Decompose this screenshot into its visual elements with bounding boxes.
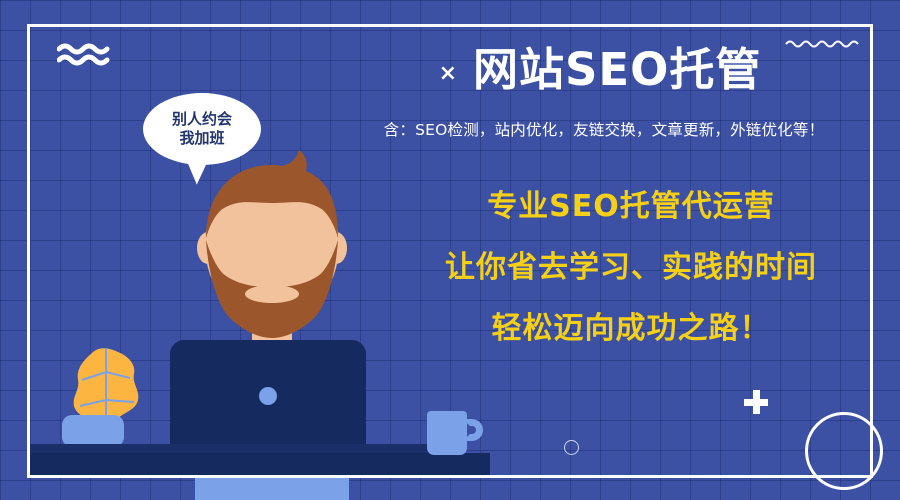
laptop xyxy=(170,340,366,456)
speech-bubble-line-1: 别人约会 xyxy=(172,110,232,129)
coffee-mug xyxy=(427,411,467,455)
slogan-line: 专业SEO托管代运营 xyxy=(392,192,870,222)
slogan-list: 专业SEO托管代运营 让你省去学习、实践的时间 轻松迈向成功之路！ xyxy=(392,192,870,344)
slogan-line: 轻松迈向成功之路！ xyxy=(392,314,870,344)
desk xyxy=(30,453,490,477)
laptop-logo-dot xyxy=(259,387,277,405)
page-title: 网站SEO托管 xyxy=(473,46,761,93)
slogan-line: 让你省去学习、实践的时间 xyxy=(392,253,870,283)
speech-bubble-line-2: 我加班 xyxy=(179,129,224,148)
plant-pot xyxy=(62,415,124,447)
page-subtitle: 含：SEO检测，站内优化，友链交换，文章更新，外链优化等！ xyxy=(330,118,878,140)
title-row: × 网站SEO托管 xyxy=(330,46,870,93)
close-icon: × xyxy=(439,63,457,85)
seo-hosting-banner: 别人约会 我加班 × 网站SEO托管 含：SEO检测，站内优化，友链交换，文章更… xyxy=(0,0,900,500)
speech-bubble: 别人约会 我加班 xyxy=(143,93,261,165)
